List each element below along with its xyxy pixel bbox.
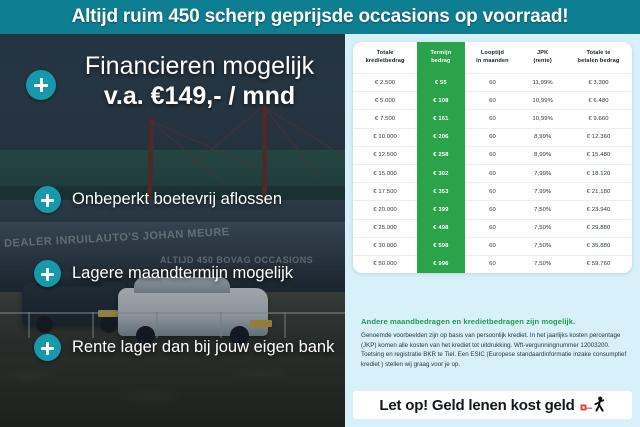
cell-looptijd: 60 — [465, 201, 521, 219]
cell-krediet: € 17.500 — [353, 183, 417, 201]
plus-icon — [34, 260, 61, 287]
plus-icon — [34, 334, 61, 361]
cell-jpk: 8,99% — [520, 128, 565, 146]
page-title: Financieren mogelijk v.a. €149,- / mnd — [62, 52, 337, 112]
cell-termijn: € 55 — [417, 74, 464, 92]
table-row: € 20.000€ 399607,50%€ 23.940 — [353, 201, 632, 219]
cell-totaal: € 35.880 — [565, 237, 632, 255]
cell-krediet: € 30.000 — [353, 237, 417, 255]
col-header-termijn: Termijn bedrag — [417, 42, 464, 74]
note-body: Genoemde voorbeelden zijn op basis van p… — [361, 331, 627, 369]
cell-looptijd: 60 — [465, 183, 521, 201]
cell-termijn: € 161 — [417, 110, 464, 128]
cell-totaal: € 3.300 — [565, 74, 632, 92]
cell-looptijd: 60 — [465, 110, 521, 128]
benefit-label: Rente lager dan bij jouw eigen bank — [72, 338, 334, 357]
cell-krediet: € 20.000 — [353, 201, 417, 219]
cell-totaal: € 12.360 — [565, 128, 632, 146]
col-header-jpk: JPK (rente) — [520, 42, 565, 74]
table-header-row: Totale kredietbedrag Termijn bedrag Loop… — [353, 42, 632, 74]
plus-icon — [34, 186, 61, 213]
cell-looptijd: 60 — [465, 164, 521, 182]
col-header-looptijd: Looptijd in maanden — [465, 42, 521, 74]
cell-termijn: € 206 — [417, 128, 464, 146]
finance-table-panel: Totale kredietbedrag Termijn bedrag Loop… — [345, 34, 640, 427]
cell-jpk: 10,99% — [520, 110, 565, 128]
cell-totaal: € 6.480 — [565, 92, 632, 110]
cell-krediet: € 12.500 — [353, 146, 417, 164]
table-row: € 50.000€ 996607,50%€ 59.760 — [353, 255, 632, 273]
cell-looptijd: 60 — [465, 219, 521, 237]
cell-jpk: 7,50% — [520, 201, 565, 219]
cell-jpk: 7,50% — [520, 237, 565, 255]
cell-krediet: € 15.000 — [353, 164, 417, 182]
benefit-item-3: Rente lager dan bij jouw eigen bank — [34, 334, 334, 361]
col-header-totaal: Totale te betalen bedrag — [565, 42, 632, 74]
cell-totaal: € 59.760 — [565, 255, 632, 273]
cell-jpk: 11,99% — [520, 74, 565, 92]
cell-jpk: 7,99% — [520, 183, 565, 201]
advertisement-banner: DEALER INRUILAUTO'S JOHAN MEURE ALTIJD 4… — [0, 0, 640, 427]
cell-krediet: € 7.500 — [353, 110, 417, 128]
cell-jpk: 7,50% — [520, 219, 565, 237]
cell-termijn: € 302 — [417, 164, 464, 182]
cell-termijn: € 996 — [417, 255, 464, 273]
cell-looptijd: 60 — [465, 255, 521, 273]
table-row: € 10.000€ 206608,99%€ 12.360 — [353, 128, 632, 146]
note-heading: Andere maandbedragen en kredietbedragen … — [361, 317, 629, 326]
cell-termijn: € 108 — [417, 92, 464, 110]
col-header-krediet: Totale kredietbedrag — [353, 42, 417, 74]
plus-icon — [26, 70, 56, 100]
table-row: € 17.500€ 353607,99%€ 21.180 — [353, 183, 632, 201]
cell-looptijd: 60 — [465, 128, 521, 146]
cell-termijn: € 258 — [417, 146, 464, 164]
cell-termijn: € 353 — [417, 183, 464, 201]
cell-krediet: € 5.000 — [353, 92, 417, 110]
benefits-column: Financieren mogelijk v.a. €149,- / mnd O… — [0, 34, 345, 427]
cell-totaal: € 9.660 — [565, 110, 632, 128]
cell-looptijd: 60 — [465, 146, 521, 164]
warning-bar: Let op! Geld lenen kost geld — [353, 391, 632, 419]
cell-totaal: € 23.940 — [565, 201, 632, 219]
banner-text: Altijd ruim 450 scherp geprijsde occasio… — [72, 6, 569, 28]
headline-line-1: Financieren mogelijk — [62, 52, 337, 81]
cell-krediet: € 50.000 — [353, 255, 417, 273]
headline-line-2: v.a. €149,- / mnd — [62, 81, 337, 112]
finance-table: Totale kredietbedrag Termijn bedrag Loop… — [353, 42, 632, 273]
benefit-item-2: Lagere maandtermijn mogelijk — [34, 260, 293, 287]
ball-and-chain-walker-icon — [580, 396, 606, 414]
cell-totaal: € 18.120 — [565, 164, 632, 182]
cell-krediet: € 25.000 — [353, 219, 417, 237]
table-row: € 2.500€ 556011,99%€ 3.300 — [353, 74, 632, 92]
cell-totaal: € 21.180 — [565, 183, 632, 201]
warning-text: Let op! Geld lenen kost geld — [379, 397, 574, 414]
cell-krediet: € 2.500 — [353, 74, 417, 92]
top-banner: Altijd ruim 450 scherp geprijsde occasio… — [0, 0, 640, 34]
cell-termijn: € 498 — [417, 219, 464, 237]
cell-jpk: 7,50% — [520, 255, 565, 273]
table-row: € 12.500€ 258608,99%€ 15.480 — [353, 146, 632, 164]
finance-table-card: Totale kredietbedrag Termijn bedrag Loop… — [353, 42, 632, 273]
table-row: € 5.000€ 1086010,99%€ 6.480 — [353, 92, 632, 110]
benefit-label: Onbeperkt boetevrij aflossen — [72, 190, 282, 209]
cell-looptijd: 60 — [465, 237, 521, 255]
table-row: € 25.000€ 498607,50%€ 29.880 — [353, 219, 632, 237]
table-row: € 15.000€ 302607,99%€ 18.120 — [353, 164, 632, 182]
cell-jpk: 7,99% — [520, 164, 565, 182]
cell-termijn: € 598 — [417, 237, 464, 255]
benefit-item-1: Onbeperkt boetevrij aflossen — [34, 186, 282, 213]
cell-krediet: € 10.000 — [353, 128, 417, 146]
cell-totaal: € 15.480 — [565, 146, 632, 164]
table-row: € 7.500€ 1616010,99%€ 9.660 — [353, 110, 632, 128]
cell-totaal: € 29.880 — [565, 219, 632, 237]
cell-jpk: 10,99% — [520, 92, 565, 110]
benefit-label: Lagere maandtermijn mogelijk — [72, 264, 293, 283]
cell-termijn: € 399 — [417, 201, 464, 219]
cell-looptijd: 60 — [465, 74, 521, 92]
cell-looptijd: 60 — [465, 92, 521, 110]
cell-jpk: 8,99% — [520, 146, 565, 164]
table-row: € 30.000€ 598607,50%€ 35.880 — [353, 237, 632, 255]
